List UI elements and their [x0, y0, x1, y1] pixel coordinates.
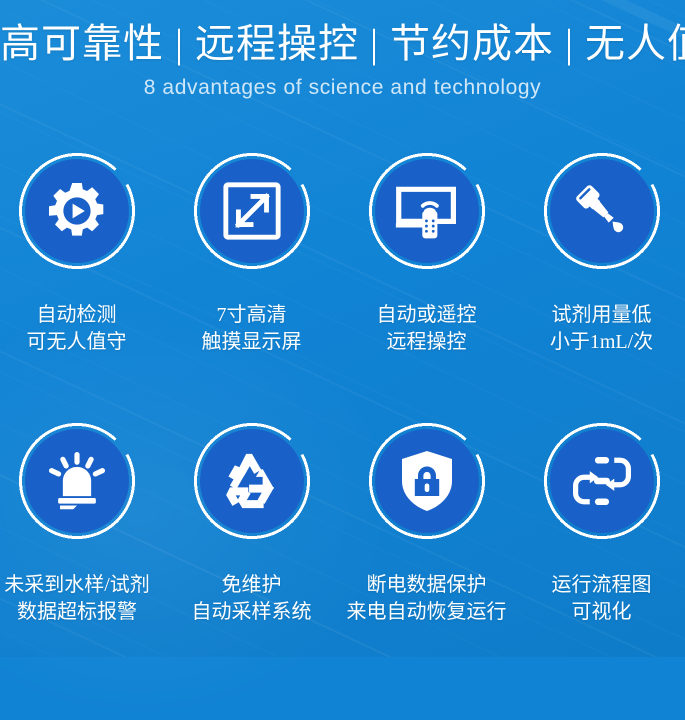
feature-item-1[interactable]: 自动检测 可无人值守 — [0, 150, 162, 390]
feature-label-line2: 触摸显示屏 — [166, 329, 337, 356]
feature-badge — [191, 150, 313, 272]
feature-badge — [16, 420, 138, 542]
feature-badge — [541, 150, 663, 272]
feature-item-3[interactable]: 自动或遥控 远程操控 — [341, 150, 512, 390]
feature-item-6[interactable]: 免维护 自动采样系统 — [166, 420, 337, 660]
feature-label-line1: 7寸高清 — [217, 304, 287, 326]
siren-alarm-icon — [16, 420, 138, 542]
feature-item-7[interactable]: 断电数据保护 来电自动恢复运行 — [341, 420, 512, 660]
feature-label: 断电数据保护 来电自动恢复运行 — [319, 572, 534, 626]
page-title: 高可靠性 | 远程操控 | 节约成本 | 无人值守 — [0, 0, 685, 64]
feature-label-line2: 可无人值守 — [0, 329, 162, 356]
feature-label-line2: 自动采样系统 — [166, 599, 337, 626]
feature-label-line2: 可视化 — [516, 599, 685, 626]
feature-row-1: 自动检测 可无人值守 7寸高清 触摸显示屏 — [0, 150, 685, 390]
feature-label-line1: 未采到水样/试剂 — [4, 574, 150, 596]
feature-label-line2: 来电自动恢复运行 — [319, 599, 534, 626]
feature-label-line1: 自动检测 — [37, 304, 117, 326]
feature-label-line1: 运行流程图 — [552, 574, 652, 596]
feature-label: 自动检测 可无人值守 — [0, 302, 162, 356]
feature-label: 试剂用量低 小于1mL/次 — [516, 302, 685, 356]
page-subtitle: 8 advantages of science and technology — [0, 64, 685, 100]
feature-label: 免维护 自动采样系统 — [166, 572, 337, 626]
recycle-icon — [191, 420, 313, 542]
feature-label-line2: 小于1mL/次 — [516, 329, 685, 356]
expand-arrows-icon — [191, 150, 313, 272]
flowchart-loop-icon — [541, 420, 663, 542]
page-header: 高可靠性 | 远程操控 | 节约成本 | 无人值守 8 advantages o… — [0, 0, 685, 100]
feature-label: 7寸高清 触摸显示屏 — [166, 302, 337, 356]
dropper-icon — [541, 150, 663, 272]
shield-lock-icon — [366, 420, 488, 542]
feature-row-2: 未采到水样/试剂 数据超标报警 — [0, 420, 685, 660]
feature-label-line1: 试剂用量低 — [552, 304, 652, 326]
feature-label: 未采到水样/试剂 数据超标报警 — [0, 572, 182, 626]
feature-item-2[interactable]: 7寸高清 触摸显示屏 — [166, 150, 337, 390]
feature-label-line1: 断电数据保护 — [367, 574, 487, 596]
feature-label-line2: 数据超标报警 — [0, 599, 182, 626]
feature-label-line2: 远程操控 — [341, 329, 512, 356]
feature-badge — [191, 420, 313, 542]
gear-play-icon — [16, 150, 138, 272]
feature-badge — [16, 150, 138, 272]
feature-badge — [541, 420, 663, 542]
feature-item-8[interactable]: 运行流程图 可视化 — [516, 420, 685, 660]
feature-label: 运行流程图 可视化 — [516, 572, 685, 626]
feature-badge — [366, 150, 488, 272]
feature-label-line1: 免维护 — [222, 574, 282, 596]
feature-label-line1: 自动或遥控 — [377, 304, 477, 326]
feature-item-5[interactable]: 未采到水样/试剂 数据超标报警 — [0, 420, 162, 660]
page-content: 高可靠性 | 远程操控 | 节约成本 | 无人值守 8 advantages o… — [0, 0, 685, 657]
feature-label: 自动或遥控 远程操控 — [341, 302, 512, 356]
feature-badge — [366, 420, 488, 542]
feature-item-4[interactable]: 试剂用量低 小于1mL/次 — [516, 150, 685, 390]
tv-remote-wifi-icon — [366, 150, 488, 272]
